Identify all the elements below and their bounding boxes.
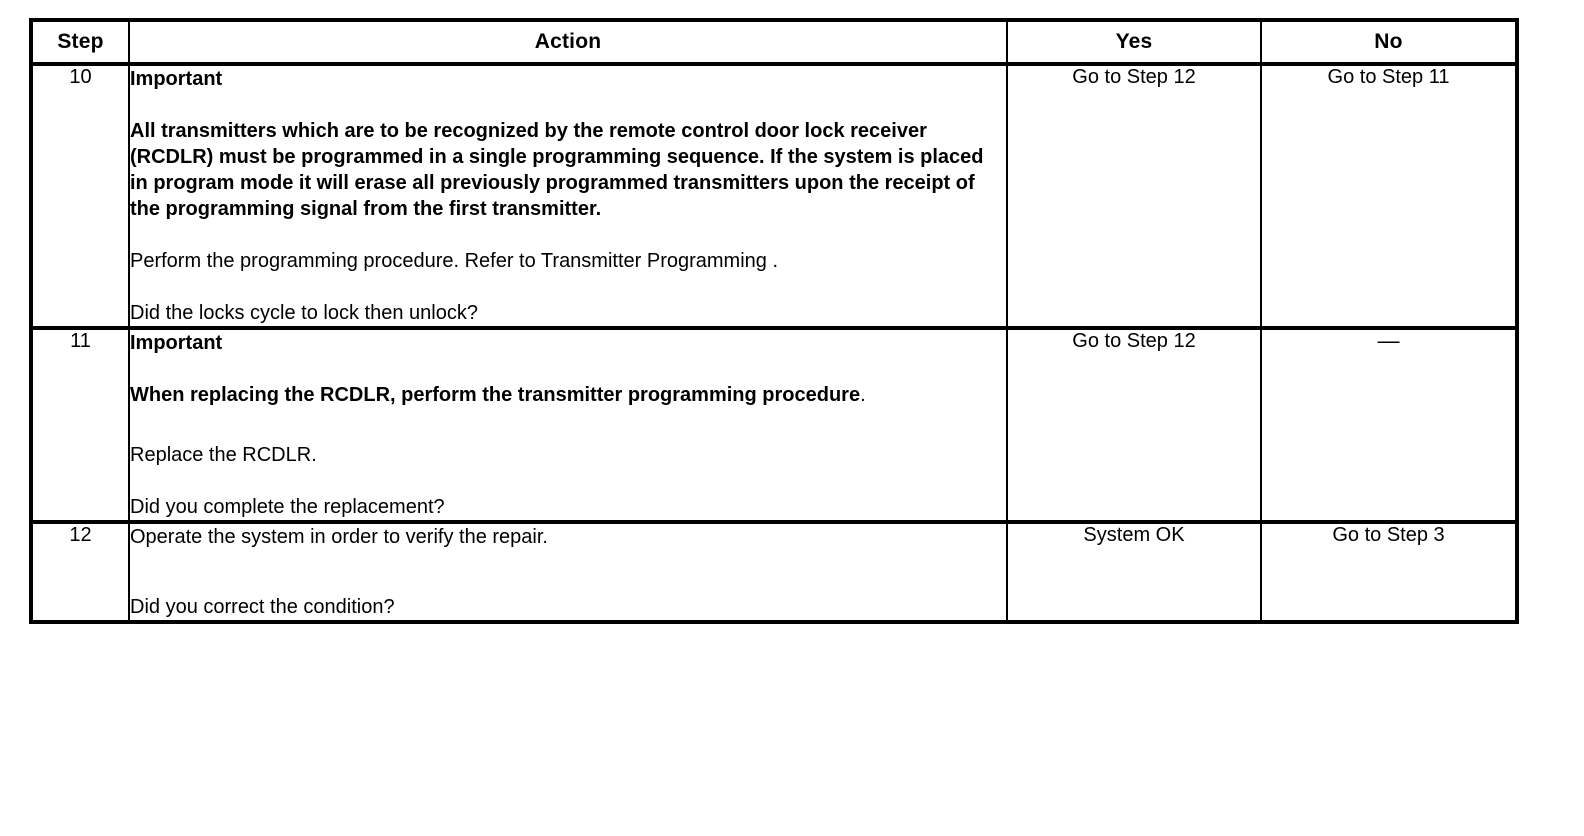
table-row: 11 Important When replacing the RCDLR, p…: [31, 328, 1517, 522]
spacer: [130, 408, 1006, 442]
question-11: Did you complete the replacement?: [130, 494, 1006, 520]
table-header-row: Step Action Yes No: [31, 20, 1517, 64]
spacer: [130, 274, 1006, 300]
spacer: [130, 222, 1006, 248]
spacer: [130, 576, 1006, 594]
important-body-10: All transmitters which are to be recogni…: [130, 118, 1006, 222]
document-page: Step Action Yes No 10 Important All tran…: [0, 0, 1584, 836]
column-header-yes: Yes: [1007, 20, 1261, 64]
question-12: Did you correct the condition?: [130, 594, 1006, 620]
important-label-10: Important: [130, 66, 1006, 92]
spacer: [130, 468, 1006, 494]
question-10: Did the locks cycle to lock then unlock?: [130, 300, 1006, 326]
action-cell-12: Operate the system in order to verify th…: [129, 522, 1007, 622]
column-header-no: No: [1261, 20, 1517, 64]
important-label-11: Important: [130, 330, 1006, 356]
step-number-10: 10: [31, 64, 129, 328]
step-number-12: 12: [31, 522, 129, 622]
instruction-12: Operate the system in order to verify th…: [130, 524, 1006, 550]
no-answer-10: Go to Step 11: [1261, 64, 1517, 328]
important-body-11-text: When replacing the RCDLR, perform the tr…: [130, 384, 860, 406]
important-body-11: When replacing the RCDLR, perform the tr…: [130, 382, 1006, 408]
yes-answer-11: Go to Step 12: [1007, 328, 1261, 522]
important-body-11-period: .: [860, 384, 866, 406]
instruction-10: Perform the programming procedure. Refer…: [130, 248, 1006, 274]
yes-answer-10: Go to Step 12: [1007, 64, 1261, 328]
action-cell-10: Important All transmitters which are to …: [129, 64, 1007, 328]
table-row: 12 Operate the system in order to verify…: [31, 522, 1517, 622]
instruction-11: Replace the RCDLR.: [130, 442, 1006, 468]
spacer: [130, 356, 1006, 382]
column-header-step: Step: [31, 20, 129, 64]
spacer: [130, 550, 1006, 576]
table-row: 10 Important All transmitters which are …: [31, 64, 1517, 328]
no-answer-11: —: [1261, 328, 1517, 522]
column-header-action: Action: [129, 20, 1007, 64]
yes-answer-12: System OK: [1007, 522, 1261, 622]
no-answer-12: Go to Step 3: [1261, 522, 1517, 622]
action-cell-11: Important When replacing the RCDLR, perf…: [129, 328, 1007, 522]
spacer: [130, 92, 1006, 118]
diagnostic-step-table: Step Action Yes No 10 Important All tran…: [29, 18, 1519, 624]
step-number-11: 11: [31, 328, 129, 522]
